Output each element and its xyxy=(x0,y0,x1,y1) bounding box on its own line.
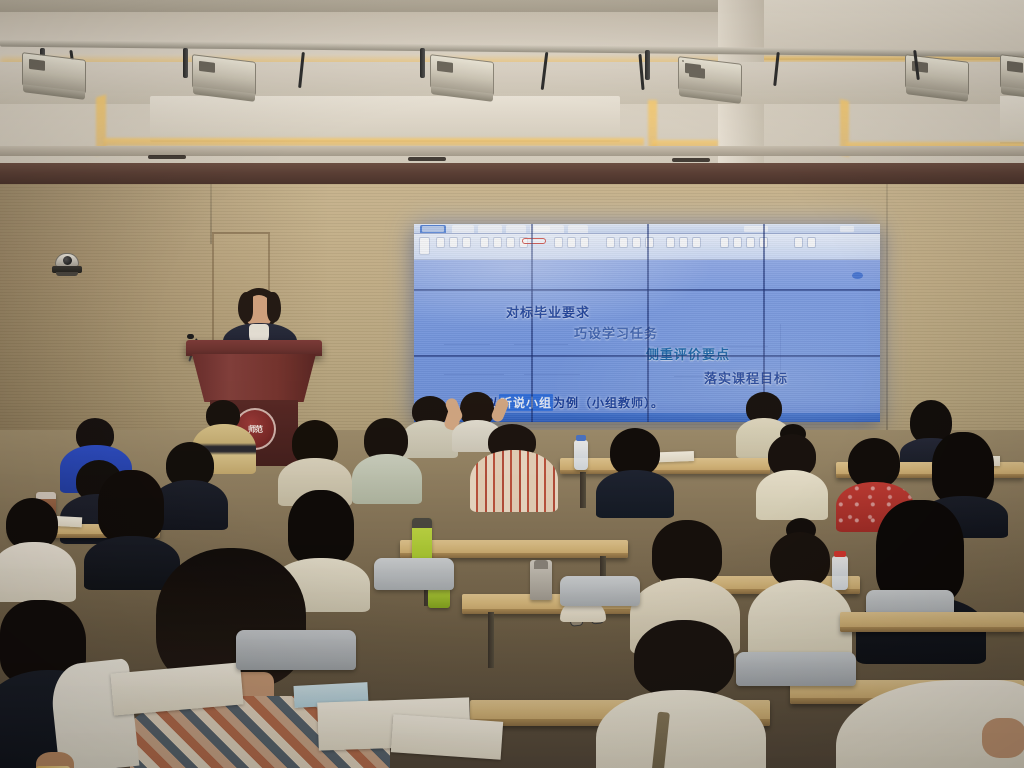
thermos-cup xyxy=(428,588,450,608)
status-chip-far-right[interactable] xyxy=(840,226,854,232)
desk-leg-1 xyxy=(580,472,586,508)
camera-lens xyxy=(63,256,72,265)
doc-rule-2 xyxy=(514,344,568,345)
status-chip-mid[interactable] xyxy=(534,226,550,232)
presenter-hair-right xyxy=(267,292,281,322)
spotlight-arm-4 xyxy=(645,50,650,80)
spotlight-fixture-2 xyxy=(192,54,256,96)
podium-top xyxy=(186,340,322,356)
doc-rule-1 xyxy=(444,344,490,345)
slide-caption: 以 听说小组 为例（小组教师）。 xyxy=(486,394,664,411)
chair-front-2[interactable] xyxy=(736,652,856,686)
app-tab-2[interactable] xyxy=(452,225,474,233)
attendee-b7 xyxy=(756,430,828,516)
cove-light-strip-left xyxy=(104,138,644,146)
ceiling-recess-right xyxy=(1000,96,1024,144)
slide-line-2: 巧设学习任务 xyxy=(574,323,658,342)
ceiling-coffer-top-left xyxy=(0,12,740,64)
attendee-b4 xyxy=(352,418,422,498)
ptz-camera-icon xyxy=(52,253,82,277)
microphone-head xyxy=(187,334,194,339)
spotlight-fixture-6 xyxy=(1000,54,1024,96)
bottle-row1 xyxy=(574,440,588,470)
ribbon-group-styles[interactable] xyxy=(554,237,589,248)
spotlight-arm-3 xyxy=(420,48,425,78)
slide-line-1: 对标毕业要求 xyxy=(506,302,590,321)
attendee-front-right xyxy=(836,660,1024,768)
spotlight-fixture-4 xyxy=(678,56,742,98)
spotlight-arm-2 xyxy=(183,48,188,78)
desk-row2-center xyxy=(400,540,628,558)
attendee-b6 xyxy=(596,428,674,512)
ribbon-group-clipboard[interactable] xyxy=(419,237,430,255)
doc-rule-4 xyxy=(724,346,768,347)
ribbon-group-arrange[interactable] xyxy=(666,237,701,248)
slide-line-3: 侧重评价要点 xyxy=(646,344,730,363)
papers-front-center-2 xyxy=(391,714,503,760)
spotlight-fixture-1 xyxy=(22,52,86,94)
chair-front-1[interactable] xyxy=(236,630,356,670)
bezel-h-2 xyxy=(414,355,880,357)
bezel-v-1 xyxy=(531,224,533,422)
app-tab-3[interactable] xyxy=(478,225,502,233)
ribbon-highlight-chip xyxy=(522,238,546,244)
ceiling-recess-left xyxy=(150,96,620,142)
ceiling-vent-1 xyxy=(148,155,186,159)
ceiling-vent-2 xyxy=(408,157,446,161)
presenter-hair-left xyxy=(238,292,253,322)
doc-rule-5 xyxy=(444,374,504,375)
desk-leg-4 xyxy=(488,612,494,668)
attendee-b5-striped xyxy=(470,424,558,512)
app-tab-4[interactable] xyxy=(506,225,526,233)
ribbon-group-editing[interactable] xyxy=(720,237,768,248)
attendee-front-center xyxy=(596,620,766,768)
ceiling-vent-3 xyxy=(672,158,710,162)
podium-body xyxy=(192,354,316,402)
silver-tumbler xyxy=(530,560,552,600)
bezel-v-2 xyxy=(647,224,649,422)
desk-right-mid xyxy=(840,612,1024,632)
spotlight-fixture-3 xyxy=(430,54,494,96)
ribbon-group-tools[interactable] xyxy=(794,237,816,248)
slide-line-4: 落实课程目标 xyxy=(704,368,788,387)
app-tab-6[interactable] xyxy=(568,225,588,233)
crown-molding xyxy=(0,163,1024,185)
wall-seam-right xyxy=(886,184,888,434)
chair-3[interactable] xyxy=(560,576,640,606)
ribbon-group-font[interactable] xyxy=(436,237,471,248)
ribbon-group-paragraph[interactable] xyxy=(480,237,528,248)
attendee-c6 xyxy=(856,500,986,660)
conference-room-photo: 对标毕业要求 巧设学习任务 侧重评价要点 落实课程目标 以 听说小组 为例（小组… xyxy=(0,0,1024,768)
spotlight-spacer xyxy=(682,60,684,62)
attendee-c1 xyxy=(0,498,74,594)
status-chip-left[interactable] xyxy=(422,226,444,232)
attendee-b3 xyxy=(278,420,352,500)
bezel-h-1 xyxy=(414,289,880,291)
camera-mount xyxy=(56,272,78,276)
